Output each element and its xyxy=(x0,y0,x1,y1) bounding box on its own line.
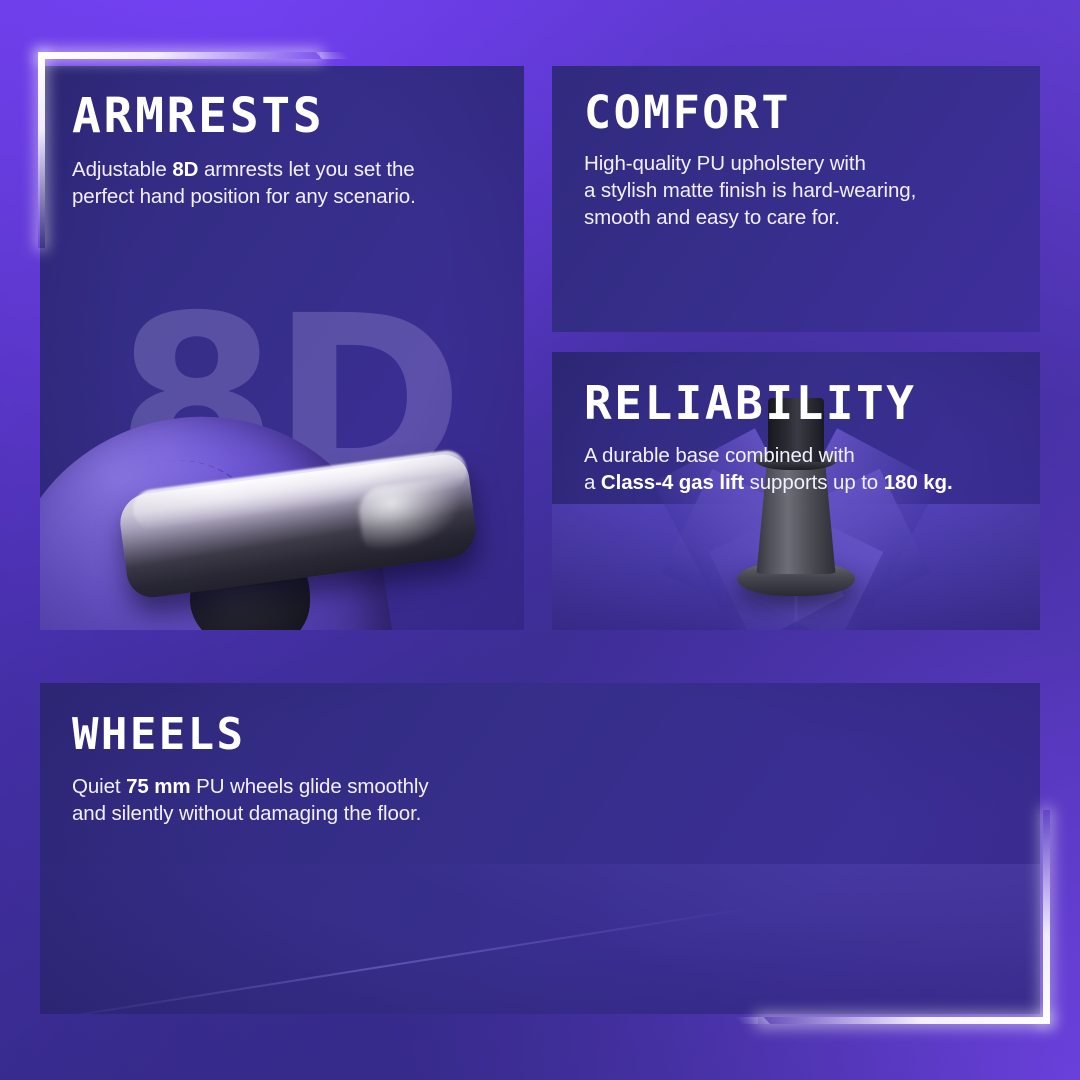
comfort-content: COMFORT High-quality PU upholstery with … xyxy=(552,66,1040,231)
bracket-horizontal-line xyxy=(758,1017,1050,1024)
reliability-body-strong-1: Class-4 gas lift xyxy=(601,471,744,494)
armrests-heading: ARMRESTS xyxy=(72,92,524,140)
card-wheels: WHEELS Quiet 75 mm PU wheels glide smoot… xyxy=(40,683,1040,1014)
armrests-body-strong: 8D xyxy=(172,158,198,181)
comfort-body-line3: smooth and easy to care for. xyxy=(584,206,840,229)
comfort-body-line1: High-quality PU upholstery with xyxy=(584,152,866,175)
armrests-content: ARMRESTS Adjustable 8D armrests let you … xyxy=(40,66,524,210)
armrests-body-prefix: Adjustable xyxy=(72,158,172,181)
wheels-body: Quiet 75 mm PU wheels glide smoothly and… xyxy=(72,773,1040,827)
wheels-body-suffix: PU wheels glide smoothly xyxy=(191,775,429,798)
armrests-body: Adjustable 8D armrests let you set the p… xyxy=(72,156,524,210)
reliability-body: A durable base combined with a Class-4 g… xyxy=(584,442,1040,496)
armrests-body-line2: perfect hand position for any scenario. xyxy=(72,185,416,208)
comfort-heading: COMFORT xyxy=(584,90,1040,135)
comfort-body: High-quality PU upholstery with a stylis… xyxy=(584,150,1040,231)
bracket-skew-tip xyxy=(316,52,350,59)
reliability-heading: RELIABILITY xyxy=(584,380,1040,426)
reliability-body-mid: supports up to xyxy=(744,471,884,494)
wheels-body-line2: and silently without damaging the floor. xyxy=(72,802,421,825)
feature-poster: 8D ARMRESTS Adjustable 8D armrests let y… xyxy=(0,0,1080,1080)
wheels-heading: WHEELS xyxy=(72,713,1040,757)
wheels-content: WHEELS Quiet 75 mm PU wheels glide smoot… xyxy=(40,683,1040,827)
reliability-body-prefix: a xyxy=(584,471,601,494)
card-armrests: 8D ARMRESTS Adjustable 8D armrests let y… xyxy=(40,66,524,630)
wheels-body-prefix: Quiet xyxy=(72,775,126,798)
bracket-vertical-line xyxy=(1043,810,1050,1024)
bracket-horizontal-line xyxy=(38,52,320,59)
card-comfort: COMFORT High-quality PU upholstery with … xyxy=(552,66,1040,332)
card-reliability: RELIABILITY A durable base combined with… xyxy=(552,352,1040,630)
comfort-body-line2: a stylish matte finish is hard-wearing, xyxy=(584,179,916,202)
armrests-body-suffix: armrests let you set the xyxy=(198,158,414,181)
reliability-body-line1: A durable base combined with xyxy=(584,444,855,467)
reliability-body-strong-2: 180 kg. xyxy=(884,471,953,494)
wheel-floor-sheen xyxy=(40,864,1040,1014)
wheels-body-strong: 75 mm xyxy=(126,775,190,798)
bracket-skew-tip xyxy=(734,1017,770,1024)
reliability-content: RELIABILITY A durable base combined with… xyxy=(552,352,1040,496)
